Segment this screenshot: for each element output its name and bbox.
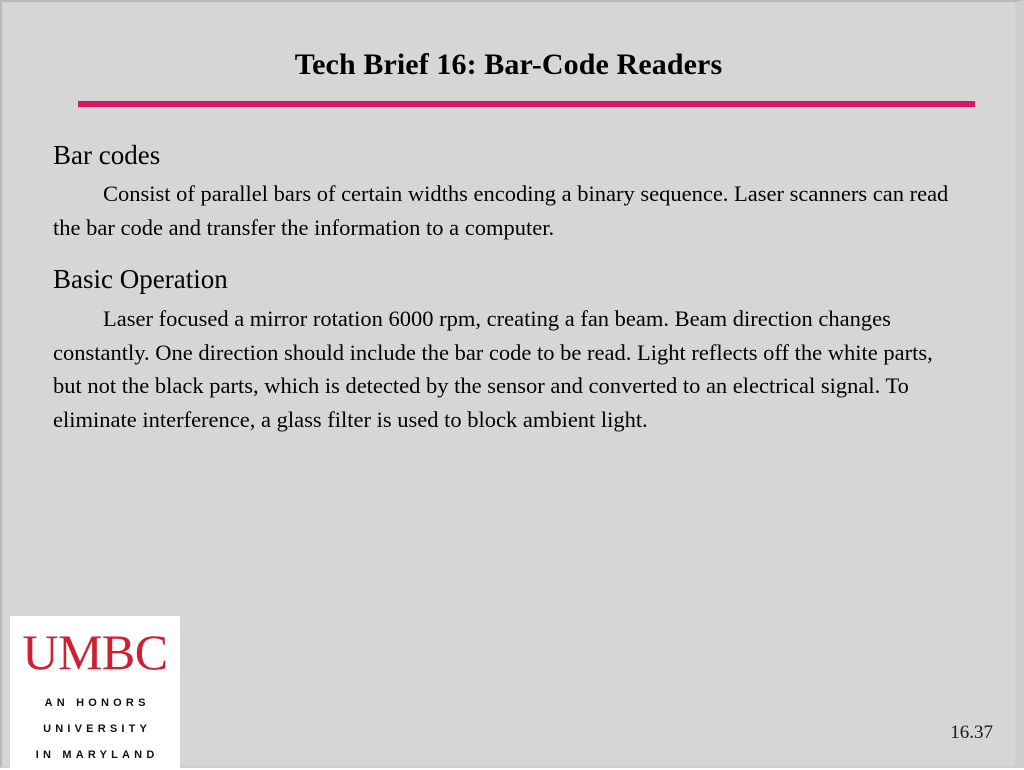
umbc-tagline: AN HONORS UNIVERSITY IN MARYLAND [10,690,180,768]
section-paragraph-basic-operation: Laser focused a mirror rotation 6000 rpm… [53,302,933,436]
slide: Tech Brief 16: Bar-Code Readers Bar code… [0,0,1024,768]
umbc-tagline-line-3: IN MARYLAND [10,742,180,768]
section-heading-basic-operation: Basic Operation [53,262,973,296]
section-paragraph-bar-codes: Consist of parallel bars of certain widt… [53,177,971,244]
page-title: Tech Brief 16: Bar-Code Readers [2,47,1015,83]
slide-content: Bar codes Consist of parallel bars of ce… [53,138,973,436]
slide-title-block: Tech Brief 16: Bar-Code Readers [2,47,1015,83]
umbc-tagline-line-2: UNIVERSITY [10,716,180,742]
slide-number: 16.37 [950,722,993,744]
title-divider-rule [78,101,975,107]
umbc-logo: UMBC AN HONORS UNIVERSITY IN MARYLAND [10,616,180,770]
section-heading-bar-codes: Bar codes [53,138,973,172]
umbc-tagline-line-1: AN HONORS [10,690,180,716]
umbc-wordmark: UMBC [10,624,180,680]
